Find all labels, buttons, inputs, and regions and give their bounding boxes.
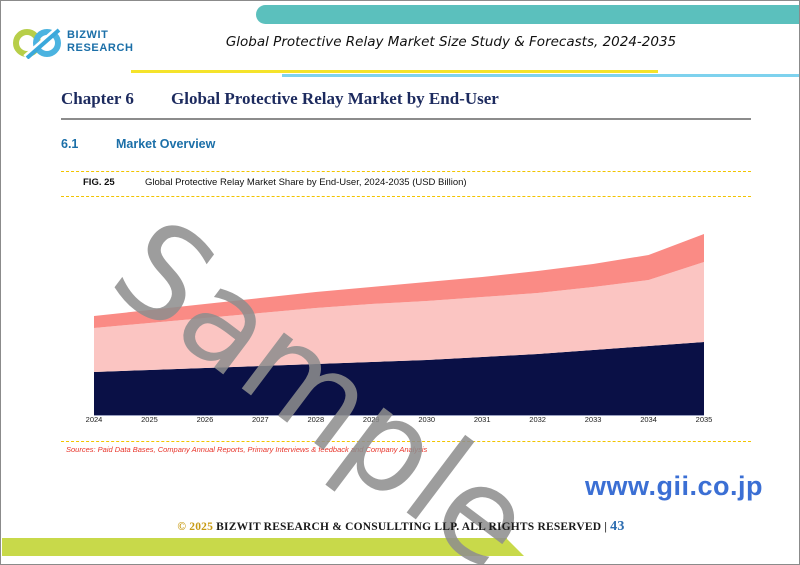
x-axis-tick-label: 2029 xyxy=(363,415,380,424)
figure-caption: Global Protective Relay Market Share by … xyxy=(145,177,467,188)
chart-x-axis: 2024202520262027202820292030203120322033… xyxy=(61,415,751,431)
x-axis-tick-label: 2035 xyxy=(696,415,713,424)
chapter-divider xyxy=(61,118,751,120)
x-axis-tick-label: 2033 xyxy=(585,415,602,424)
footer-company: BIZWIT RESEARCH & CONSULLTING LLP. ALL R… xyxy=(216,521,601,533)
stacked-area-chart xyxy=(61,206,751,416)
footer-page-number: 43 xyxy=(610,519,624,534)
x-axis-tick-label: 2028 xyxy=(307,415,324,424)
section-title: Market Overview xyxy=(116,137,215,151)
report-page: BIZWIT RESEARCH Global Protective Relay … xyxy=(0,0,800,565)
chapter-heading: Chapter 6Global Protective Relay Market … xyxy=(61,89,751,109)
x-axis-tick-label: 2030 xyxy=(418,415,435,424)
x-axis-tick-label: 2034 xyxy=(640,415,657,424)
x-axis-tick-label: 2031 xyxy=(474,415,491,424)
x-axis-tick-label: 2032 xyxy=(529,415,546,424)
header-rule-yellow xyxy=(131,70,658,73)
infinity-logo-icon xyxy=(13,27,65,59)
header-title: Global Protective Relay Market Size Stud… xyxy=(151,34,751,50)
section-number: 6.1 xyxy=(61,137,116,151)
section-heading: 6.1Market Overview xyxy=(61,137,215,151)
website-url[interactable]: www.gii.co.jp xyxy=(585,471,763,502)
footer-separator: | xyxy=(604,521,607,533)
x-axis-tick-label: 2024 xyxy=(86,415,103,424)
logo-line-2: RESEARCH xyxy=(67,42,134,55)
x-axis-tick-label: 2025 xyxy=(141,415,158,424)
figure-caption-box: FIG. 25 Global Protective Relay Market S… xyxy=(61,171,751,197)
source-text: Sources: Paid Data Bases, Company Annual… xyxy=(66,445,427,454)
logo-line-1: BIZWIT xyxy=(67,29,134,42)
lime-accent-bar xyxy=(2,538,507,556)
header-rule-blue xyxy=(282,74,800,77)
chapter-title: Global Protective Relay Market by End-Us… xyxy=(171,89,499,108)
x-axis-tick-label: 2027 xyxy=(252,415,269,424)
source-box: Sources: Paid Data Bases, Company Annual… xyxy=(61,441,751,460)
bizwit-logo: BIZWIT RESEARCH xyxy=(13,25,133,65)
logo-wordmark: BIZWIT RESEARCH xyxy=(67,29,134,54)
x-axis-tick-label: 2026 xyxy=(197,415,214,424)
chart-plot-area xyxy=(61,206,751,416)
page-footer: © 2025 BIZWIT RESEARCH & CONSULLTING LLP… xyxy=(1,519,800,535)
footer-copyright: © 2025 xyxy=(177,521,213,533)
chapter-number: Chapter 6 xyxy=(61,89,171,109)
figure-number: FIG. 25 xyxy=(83,177,115,188)
teal-accent-bar xyxy=(256,5,800,24)
